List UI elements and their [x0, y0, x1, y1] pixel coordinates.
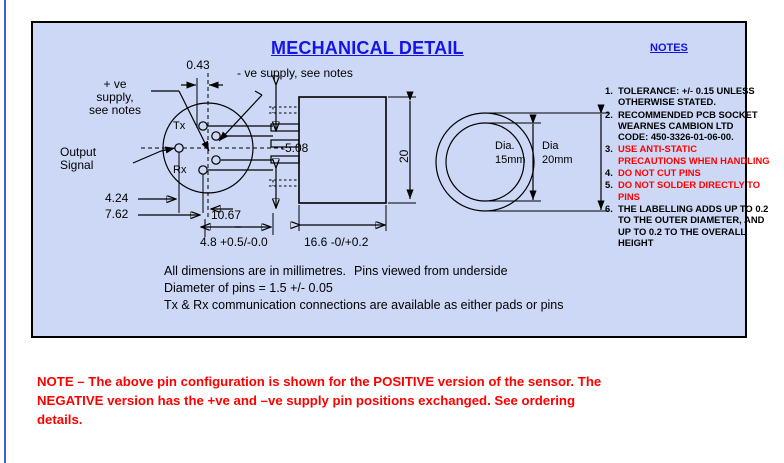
diameter-20-label-line2: 20mm [542, 154, 573, 167]
notes-list: 1.TOLERANCE: +/- 0.15 UNLESSOTHERWISE ST… [605, 85, 777, 249]
note-number: 5. [605, 179, 618, 202]
footer-line2: Diameter of pins = 1.5 +/- 0.05 [164, 282, 333, 295]
note-text-line: PRECAUTIONS WHEN HANDLING [618, 155, 777, 166]
note-text-line: PINS [618, 191, 777, 202]
page-title: MECHANICAL DETAIL [271, 38, 464, 59]
note-text-line: RECOMMENDED PCB SOCKET [618, 109, 777, 120]
dimension-5-08: -5.08 [281, 142, 308, 155]
note-text: THE LABELLING ADDS UP TO 0.2TO THE OUTER… [618, 203, 777, 248]
dimension-16-6: 16.6 -0/+0.2 [304, 236, 368, 249]
note-text-line: CODE: 450-3326-01-06-00. [618, 131, 777, 142]
notes-heading: NOTES [650, 42, 688, 54]
dimension-4-24: 4.24 [105, 192, 128, 205]
note-text-line: UP TO 0.2 TO THE OVERALL [618, 226, 777, 237]
note-text-line: OTHERWISE STATED. [618, 96, 777, 107]
note-number: 3. [605, 143, 618, 166]
rx-pin-label: Rx [173, 164, 186, 177]
footer-line3: Tx & Rx communication connections are av… [164, 299, 564, 312]
note-text-line: TOLERANCE: +/- 0.15 UNLESS [618, 85, 777, 96]
bottom-note-line1: NOTE – The above pin configuration is sh… [37, 372, 737, 391]
diameter-15-label-line2: 15mm [495, 154, 526, 167]
dimension-20: 20 [398, 150, 411, 163]
note-text-line: WEARNES CAMBION LTD [618, 120, 777, 131]
footer-line1b: Pins viewed from underside [354, 265, 508, 278]
note-number: 6. [605, 203, 618, 248]
note-text-line: HEIGHT [618, 237, 777, 248]
negative-supply-label: - ve supply, see notes [237, 67, 353, 80]
footer-line1a: All dimensions are in millimetres. [164, 265, 346, 278]
dimension-10-67: 10.67 [211, 209, 241, 222]
note-text-line: DO NOT CUT PINS [618, 167, 777, 178]
note-number: 2. [605, 109, 618, 143]
page-left-rule [4, 0, 6, 463]
note-text: DO NOT SOLDER DIRECTLY TOPINS [618, 179, 777, 202]
note-text: RECOMMENDED PCB SOCKETWEARNES CAMBION LT… [618, 109, 777, 143]
bottom-note-line3: details. [37, 410, 737, 429]
diameter-15-label-line1: Dia. [495, 140, 515, 153]
dimension-4-8: 4.8 +0.5/-0.0 [200, 236, 268, 249]
note-text-line: TO THE OUTER DIAMETER, AND [618, 214, 777, 225]
bottom-note-line2: NEGATIVE version has the +ve and –ve sup… [37, 391, 737, 410]
output-signal-label-line2: Signal [60, 159, 93, 172]
note-number: 1. [605, 85, 618, 108]
diameter-20-label-line1: Dia [542, 140, 559, 153]
note-item: 2.RECOMMENDED PCB SOCKETWEARNES CAMBION … [605, 109, 777, 143]
note-text-line: DO NOT SOLDER DIRECTLY TO [618, 179, 777, 190]
note-number: 4. [605, 167, 618, 178]
note-text: DO NOT CUT PINS [618, 167, 777, 178]
note-text: USE ANTI-STATICPRECAUTIONS WHEN HANDLING [618, 143, 777, 166]
mechanical-detail-panel: MECHANICAL DETAIL NOTES + ve supply, see… [31, 21, 747, 338]
note-text: TOLERANCE: +/- 0.15 UNLESSOTHERWISE STAT… [618, 85, 777, 108]
note-item: 6.THE LABELLING ADDS UP TO 0.2TO THE OUT… [605, 203, 777, 248]
dimension-7-62: 7.62 [105, 208, 128, 221]
tx-pin-label: Tx [173, 120, 185, 133]
positive-negative-version-note: NOTE – The above pin configuration is sh… [37, 372, 737, 429]
note-item: 4.DO NOT CUT PINS [605, 167, 777, 178]
note-item: 5.DO NOT SOLDER DIRECTLY TOPINS [605, 179, 777, 202]
note-item: 3.USE ANTI-STATICPRECAUTIONS WHEN HANDLI… [605, 143, 777, 166]
positive-supply-label-line3: see notes [77, 104, 153, 117]
note-item: 1.TOLERANCE: +/- 0.15 UNLESSOTHERWISE ST… [605, 85, 777, 108]
dimension-0-43: 0.43 [177, 59, 219, 72]
note-text-line: THE LABELLING ADDS UP TO 0.2 [618, 203, 777, 214]
note-text-line: USE ANTI-STATIC [618, 143, 777, 154]
